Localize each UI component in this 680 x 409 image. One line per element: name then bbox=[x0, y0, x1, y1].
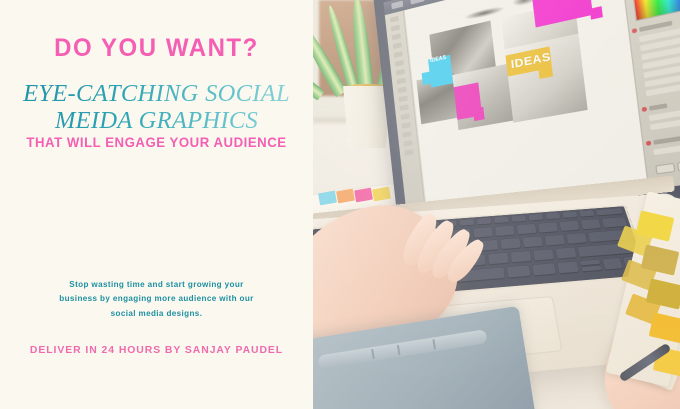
body-copy: Stop wasting time and start growing your… bbox=[46, 278, 267, 321]
tool-button[interactable] bbox=[395, 60, 404, 67]
keyboard-key[interactable] bbox=[566, 233, 587, 245]
tool-button[interactable] bbox=[404, 140, 413, 146]
keyboard-key[interactable] bbox=[559, 221, 580, 232]
keyboard-key[interactable] bbox=[507, 265, 531, 278]
panel-collapse-icon[interactable] bbox=[646, 141, 652, 146]
keyboard-key-arrow[interactable] bbox=[603, 258, 623, 270]
keyboard-key[interactable] bbox=[494, 216, 509, 224]
tool-button[interactable] bbox=[400, 104, 409, 111]
artwork-color-block bbox=[590, 6, 603, 20]
tablet-button-bar bbox=[318, 329, 488, 369]
tool-button[interactable] bbox=[401, 113, 410, 120]
tool-button[interactable] bbox=[391, 25, 400, 32]
panel-button[interactable] bbox=[655, 163, 675, 175]
keyboard-key[interactable] bbox=[562, 211, 577, 218]
keyboard-key[interactable] bbox=[511, 251, 532, 263]
tool-button[interactable] bbox=[393, 42, 402, 49]
tool-button[interactable] bbox=[392, 33, 401, 40]
panel-collapse-icon[interactable] bbox=[632, 28, 637, 33]
menu-item[interactable] bbox=[391, 1, 403, 10]
keyboard-key[interactable] bbox=[538, 222, 558, 233]
subhead-serif-line-1: EYE-CATCHING SOCIAL bbox=[0, 80, 313, 107]
body-copy-line-3: social media designs. bbox=[46, 307, 267, 321]
artwork-color-block bbox=[473, 107, 485, 121]
keyboard-key[interactable] bbox=[533, 249, 554, 261]
keyboard-key[interactable] bbox=[477, 218, 492, 226]
keyboard-key[interactable] bbox=[545, 212, 560, 220]
tool-button[interactable] bbox=[397, 78, 406, 85]
hero-photo: IDEAS IDEAS bbox=[313, 0, 680, 409]
keyboard-key[interactable] bbox=[517, 224, 537, 235]
subhead-serif-line-2: MEIDA GRAPHICS bbox=[0, 107, 313, 134]
keyboard-key[interactable] bbox=[544, 235, 565, 247]
keyboard-key[interactable] bbox=[511, 215, 526, 223]
keyboard-key[interactable] bbox=[557, 261, 579, 274]
keyboard-key[interactable] bbox=[580, 219, 601, 230]
keyboard-key[interactable] bbox=[532, 263, 556, 276]
keyboard-key[interactable] bbox=[460, 219, 475, 227]
body-copy-line-2: business by engaging more audience with … bbox=[46, 292, 267, 306]
keyboard-key[interactable] bbox=[473, 227, 493, 238]
panel-heading bbox=[649, 103, 667, 111]
headline: DO YOU WANT? bbox=[6, 34, 306, 63]
keyboard-key[interactable] bbox=[501, 238, 521, 250]
menu-item[interactable] bbox=[410, 0, 424, 5]
panel-collapse-icon[interactable] bbox=[642, 107, 648, 112]
keyboard-key[interactable] bbox=[495, 225, 515, 236]
tool-button[interactable] bbox=[390, 16, 399, 23]
artwork-smudge bbox=[464, 5, 505, 22]
artwork-color-block bbox=[422, 72, 431, 86]
tool-button[interactable] bbox=[396, 69, 405, 76]
tool-button[interactable] bbox=[394, 51, 403, 58]
subhead-pink: THAT WILL ENGAGE YOUR AUDIENCE bbox=[5, 135, 309, 150]
keyboard-key[interactable] bbox=[528, 214, 543, 222]
tool-button[interactable] bbox=[398, 87, 407, 94]
keyboard-key-arrow[interactable] bbox=[581, 265, 602, 272]
keyboard-key[interactable] bbox=[579, 210, 595, 217]
tool-button[interactable] bbox=[405, 149, 414, 155]
keyboard-key[interactable] bbox=[523, 236, 544, 248]
panel-heading bbox=[653, 136, 680, 145]
color-spectrum-picker[interactable] bbox=[630, 0, 680, 21]
copy-panel: DO YOU WANT? EYE-CATCHING SOCIAL MEIDA G… bbox=[0, 0, 313, 409]
keyboard-key[interactable] bbox=[555, 247, 577, 259]
subhead-serif: EYE-CATCHING SOCIAL MEIDA GRAPHICS bbox=[0, 80, 313, 134]
tool-button[interactable] bbox=[402, 122, 411, 129]
poster-canvas: DO YOU WANT? EYE-CATCHING SOCIAL MEIDA G… bbox=[0, 0, 680, 409]
delivery-callout: DELIVER IN 24 HOURS BY SANJAY PAUDEL bbox=[0, 345, 313, 356]
tool-button[interactable] bbox=[399, 95, 408, 102]
tool-button[interactable] bbox=[403, 131, 412, 137]
body-copy-line-1: Stop wasting time and start growing your bbox=[46, 278, 267, 292]
keyboard-key[interactable] bbox=[596, 208, 624, 216]
keyboard-key[interactable] bbox=[488, 253, 509, 265]
